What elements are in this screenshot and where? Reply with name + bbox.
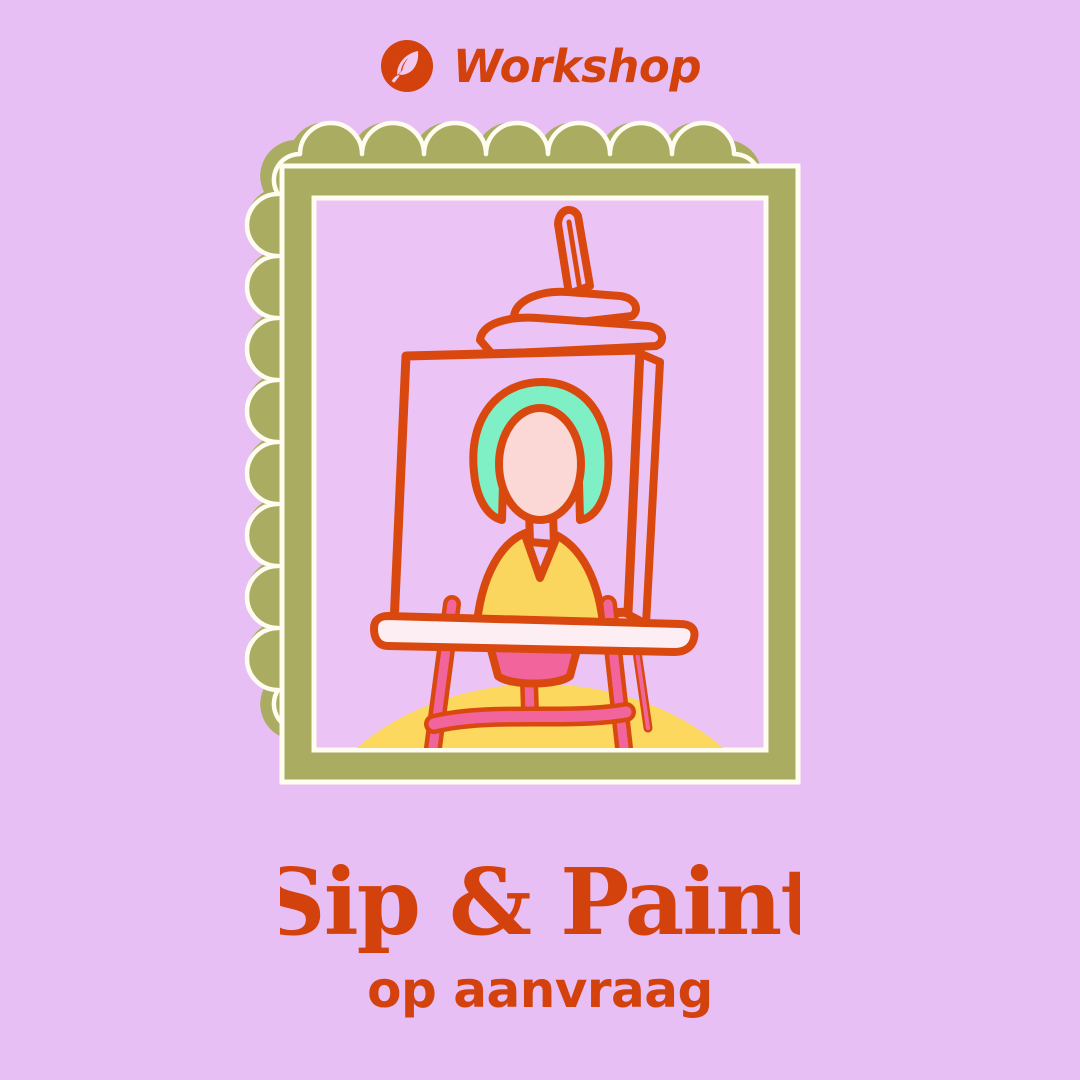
- headline-subtitle-graphic: op aanvraag: [360, 960, 720, 1022]
- headline-title: Sip & Paint: [280, 856, 800, 956]
- paintbrush-leaf-circle-icon: [379, 38, 435, 94]
- poster-root: Workshop: [0, 0, 1080, 1080]
- headline-block: Sip & Paint op aanvraag: [0, 856, 1080, 1022]
- brand-name: Workshop: [453, 44, 701, 89]
- headline-title-graphic: Sip & Paint: [280, 856, 800, 956]
- portrait-figure: [473, 382, 608, 634]
- headline-subtitle: op aanvraag: [367, 961, 713, 1019]
- figure-face: [499, 408, 581, 520]
- framed-artwork: [228, 104, 852, 844]
- easel-tray: [374, 616, 694, 652]
- brand-header: Workshop: [0, 28, 1080, 104]
- artwork-svg: [228, 104, 852, 844]
